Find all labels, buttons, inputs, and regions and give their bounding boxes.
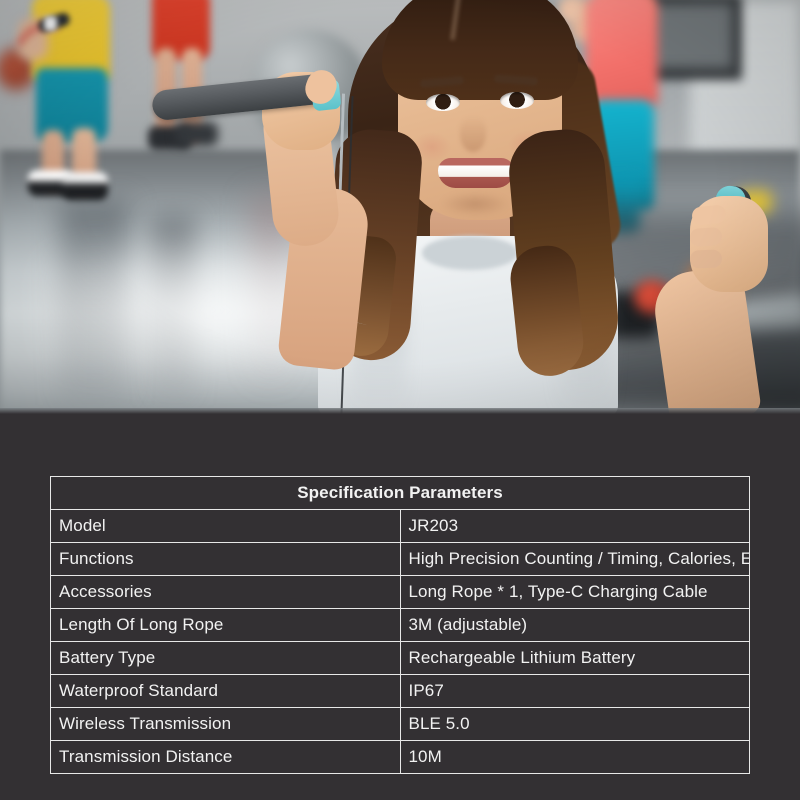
table-row: Model JR203 — [51, 510, 750, 543]
spec-value-battery-type: Rechargeable Lithium Battery — [400, 642, 750, 675]
spec-label-model: Model — [51, 510, 401, 543]
spec-label-accessories: Accessories — [51, 576, 401, 609]
spec-title-row: Specification Parameters — [51, 477, 750, 510]
table-row: Accessories Long Rope * 1, Type-C Chargi… — [51, 576, 750, 609]
girl-right-finger — [689, 227, 722, 247]
spec-label-wireless-transmission: Wireless Transmission — [51, 708, 401, 741]
girl-eye-left — [426, 94, 460, 111]
spec-label-battery-type: Battery Type — [51, 642, 401, 675]
table-row: Functions High Precision Counting / Timi… — [51, 543, 750, 576]
table-row: Wireless Transmission BLE 5.0 — [51, 708, 750, 741]
spec-label-length-of-long-rope: Length Of Long Rope — [51, 609, 401, 642]
girl-smile — [438, 158, 514, 188]
specification-table: Specification Parameters Model JR203 Fun… — [50, 476, 750, 774]
spec-label-waterproof-standard: Waterproof Standard — [51, 675, 401, 708]
girl-eye-right — [500, 92, 534, 109]
table-row: Transmission Distance 10M — [51, 741, 750, 774]
table-row: Battery Type Rechargeable Lithium Batter… — [51, 642, 750, 675]
girl-right-finger — [690, 249, 723, 268]
spec-value-model: JR203 — [400, 510, 750, 543]
girl-tshirt-collar — [422, 236, 518, 270]
spec-value-wireless-transmission: BLE 5.0 — [400, 708, 750, 741]
background-child-sneaker — [62, 172, 108, 200]
girl-chin-shadow — [440, 192, 510, 216]
spec-value-accessories: Long Rope * 1, Type-C Charging Cable — [400, 576, 750, 609]
girl-hair-top — [382, 0, 578, 100]
spec-label-transmission-distance: Transmission Distance — [51, 741, 401, 774]
background-wristband — [44, 16, 57, 31]
table-row: Length Of Long Rope 3M (adjustable) — [51, 609, 750, 642]
spec-value-length-of-long-rope: 3M (adjustable) — [400, 609, 750, 642]
product-listing-page: Specification Parameters Model JR203 Fun… — [0, 0, 800, 800]
specification-section: Specification Parameters Model JR203 Fun… — [0, 414, 800, 800]
spec-value-functions: High Precision Counting / Timing, Calori… — [400, 543, 750, 576]
framed-picture-inner — [648, 4, 732, 68]
spec-label-functions: Functions — [51, 543, 401, 576]
girl-nose — [460, 116, 486, 152]
product-lifestyle-photo — [0, 0, 800, 414]
spec-value-waterproof-standard: IP67 — [400, 675, 750, 708]
spec-value-transmission-distance: 10M — [400, 741, 750, 774]
background-child-shoe — [176, 122, 218, 146]
table-row: Waterproof Standard IP67 — [51, 675, 750, 708]
spec-title: Specification Parameters — [51, 477, 750, 510]
